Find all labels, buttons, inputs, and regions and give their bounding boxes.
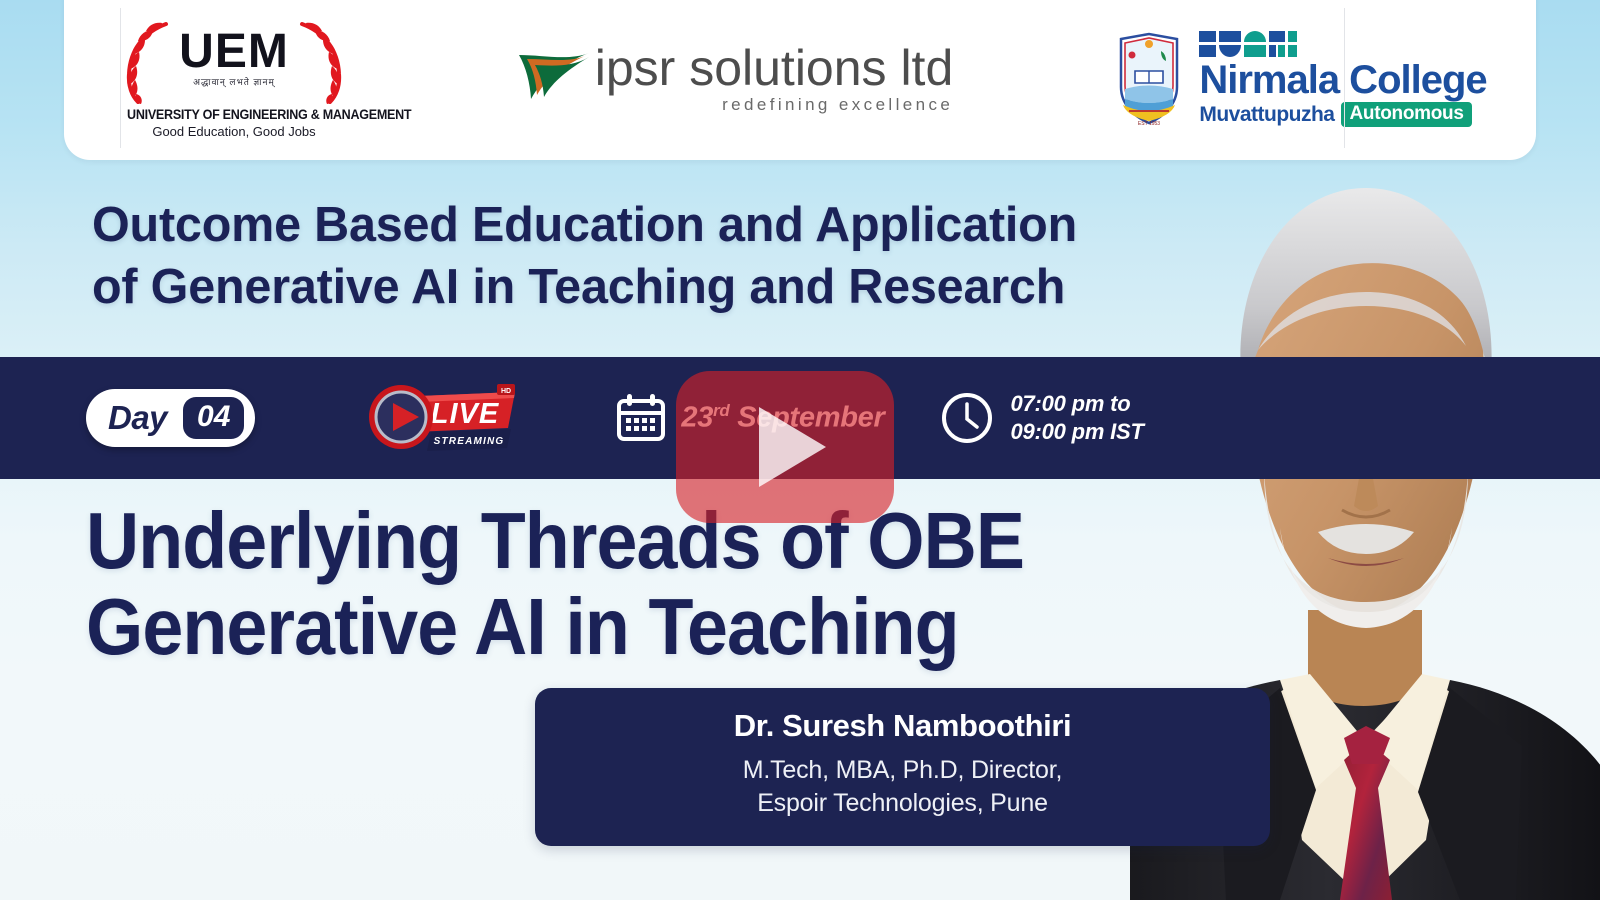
uem-sanskrit-motto: अद्धावान् लभते ज्ञानम् [119,75,349,88]
nirmala-crest-icon: EST 1953 [1115,31,1183,127]
session-headline: Underlying Threads of OBE Generative AI … [86,498,1024,669]
svg-text:EST 1953: EST 1953 [1138,121,1160,127]
ipsr-tagline: redefining excellence [595,95,954,115]
session-headline-line-2: Generative AI in Teaching [86,584,1024,670]
live-streaming-badge: HD LIVE STREAMING [365,382,517,454]
nirmala-place: Muvattupuzha [1199,103,1334,127]
program-title: Outcome Based Education and Application … [92,194,1191,318]
webinar-poster: UEM अद्धावान् लभते ज्ञानम् UNIVERSITY OF… [0,0,1600,900]
logo-nirmala-college: EST 1953 Nirmala College Muvattupuzha Au… [1066,0,1536,160]
event-time-line-1: 07:00 pm to [1010,390,1143,418]
event-time-group: 07:00 pm to 09:00 pm IST [940,390,1143,446]
svg-text:STREAMING: STREAMING [434,436,505,447]
day-number: 04 [183,397,244,439]
program-title-line-1: Outcome Based Education and Application [92,194,1191,256]
speaker-credentials-line-2: Espoir Technologies, Pune [535,787,1270,820]
speaker-info-card: Dr. Suresh Namboothiri M.Tech, MBA, Ph.D… [535,688,1270,846]
event-time-line-2: 09:00 pm IST [1010,418,1143,446]
speaker-credentials: M.Tech, MBA, Ph.D, Director, Espoir Tech… [535,754,1270,821]
speaker-credentials-line-1: M.Tech, MBA, Ph.D, Director, [535,754,1270,787]
logo-uem: UEM अद्धावान् लभते ज्ञानम् UNIVERSITY OF… [64,0,404,160]
logo-ipsr: ipsr solutions ltd redefining excellence [404,0,1066,160]
speaker-name: Dr. Suresh Namboothiri [535,708,1270,744]
nirmala-ncm-mark [1199,31,1486,57]
nirmala-autonomous-badge: Autonomous [1341,102,1471,127]
day-badge: Day 04 [86,389,255,447]
play-triangle-icon [759,407,826,487]
ipsr-name: ipsr solutions ltd [595,43,954,94]
ipsr-swoosh-icon [517,51,591,107]
event-time: 07:00 pm to 09:00 pm IST [1010,390,1143,446]
uem-full-name: UNIVERSITY OF ENGINEERING & MANAGEMENT [127,107,341,122]
partner-logo-bar: UEM अद्धावान् लभते ज्ञानम् UNIVERSITY OF… [64,0,1536,160]
uem-wordmark: UEM [119,24,349,79]
uem-tagline: Good Education, Good Jobs [119,124,349,139]
svg-text:HD: HD [501,388,511,395]
logo-divider-right [1344,8,1345,148]
clock-icon [940,391,994,445]
uem-emblem: UEM अद्धावान् लभते ज्ञानम् [119,20,349,104]
svg-text:LIVE: LIVE [431,398,500,430]
nirmala-college-name: Nirmala College [1199,60,1486,100]
calendar-icon [615,392,667,444]
day-label: Day [108,399,167,437]
program-title-line-2: of Generative AI in Teaching and Researc… [92,256,1191,318]
play-button[interactable] [676,371,894,523]
